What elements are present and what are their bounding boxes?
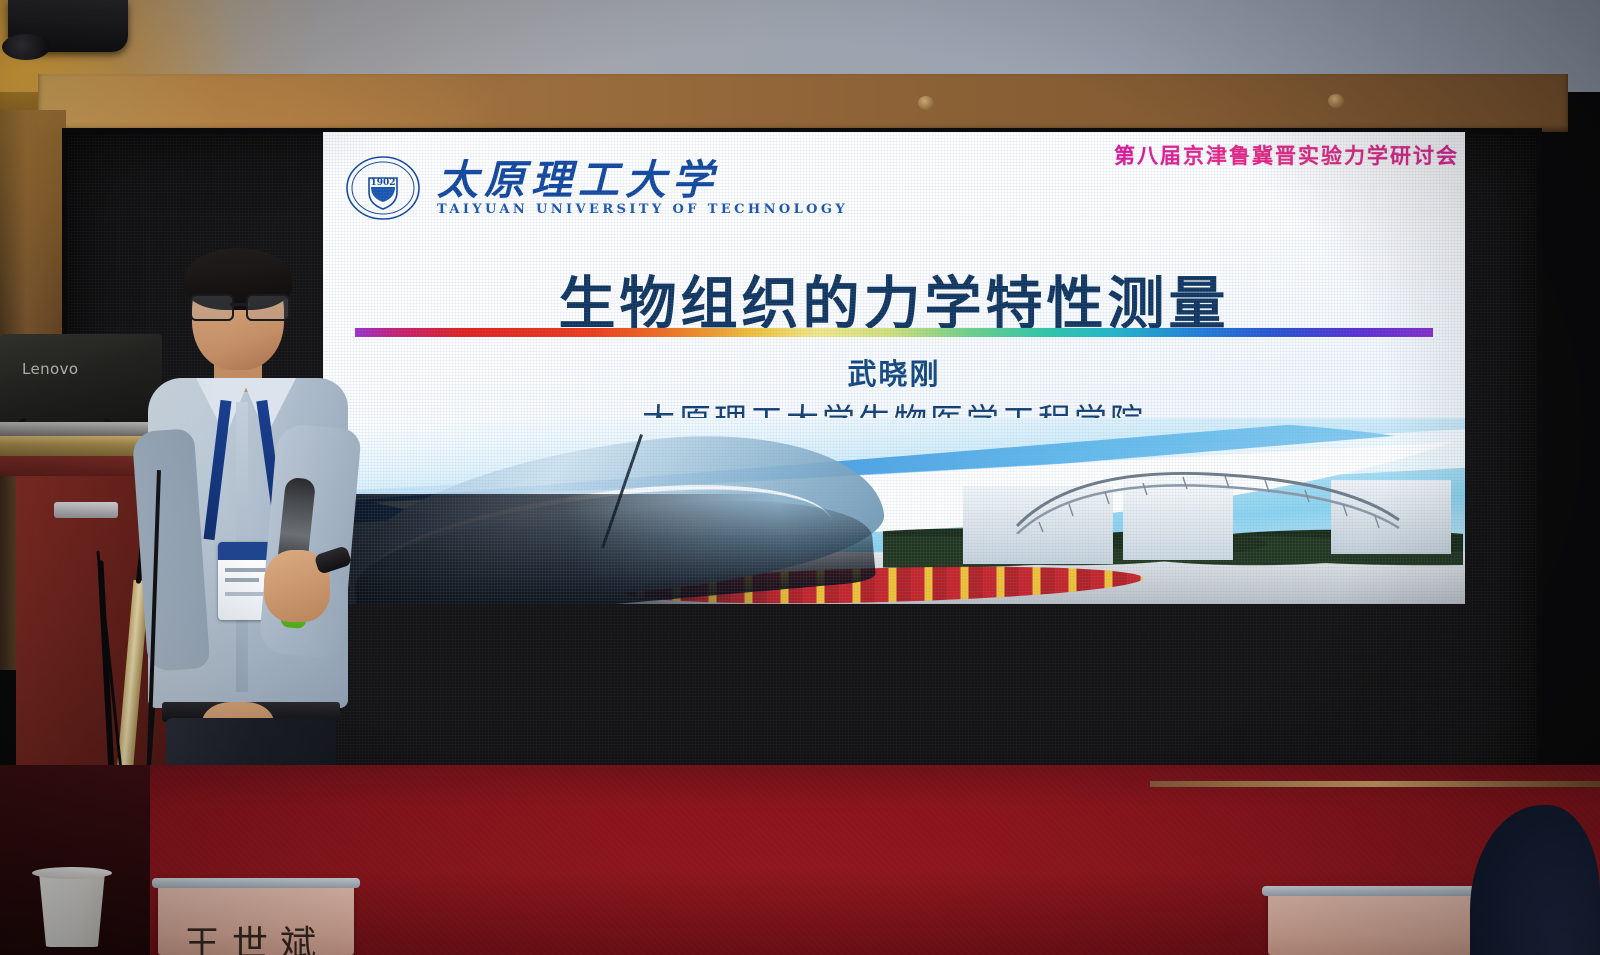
ceiling-projector bbox=[8, 0, 128, 52]
laptop: Lenovo bbox=[0, 334, 162, 442]
glasses-left-lens bbox=[190, 294, 234, 321]
lenovo-logo: Lenovo bbox=[22, 360, 78, 378]
university-seal-icon: 1902 bbox=[345, 150, 421, 226]
paper-cup-rim bbox=[32, 867, 112, 879]
campus-panorama-image bbox=[323, 418, 1465, 604]
frame-screw bbox=[1328, 94, 1344, 108]
campus-gate-arch bbox=[1013, 464, 1403, 534]
stage-gold-trim bbox=[1150, 781, 1600, 787]
rainbow-divider bbox=[355, 328, 1433, 337]
glasses-right-lens bbox=[246, 294, 290, 321]
presenter-name: 武晓刚 bbox=[323, 351, 1465, 393]
badge-text-line bbox=[225, 592, 265, 596]
badge-text-line bbox=[225, 578, 259, 582]
paper-cup bbox=[36, 871, 108, 947]
glasses-icon bbox=[190, 294, 290, 318]
conference-banner-text: 第八届京津鲁冀晋实验力学研讨会 bbox=[1114, 140, 1459, 170]
conference-scene: 第八届京津鲁冀晋实验力学研讨会 1902 太原理工大学 TAIYUAN UNIV… bbox=[0, 0, 1600, 955]
projector-lens bbox=[2, 34, 50, 60]
university-logo-text: 太原理工大学 TAIYUAN UNIVERSITY OF TECHNOLOGY bbox=[437, 160, 848, 217]
svg-text:1902: 1902 bbox=[370, 178, 395, 188]
frame-screw bbox=[918, 96, 934, 110]
presentation-slide: 第八届京津鲁冀晋实验力学研讨会 1902 太原理工大学 TAIYUAN UNIV… bbox=[323, 132, 1465, 604]
wooden-frame-top bbox=[38, 74, 1568, 132]
university-name-cn: 太原理工大学 bbox=[437, 160, 848, 201]
placard-frame bbox=[152, 878, 360, 888]
badge-text-line bbox=[225, 568, 267, 572]
lectern-nameplate bbox=[54, 502, 118, 518]
placard-name-text: 王世斌 bbox=[158, 915, 354, 955]
university-logo: 1902 太原理工大学 TAIYUAN UNIVERSITY OF TECHNO… bbox=[345, 150, 848, 226]
name-placard-right bbox=[1268, 893, 1482, 955]
name-placard-left: 王世斌 bbox=[158, 885, 354, 955]
placard-frame bbox=[1262, 886, 1488, 896]
campus-shadow-overlay bbox=[323, 494, 963, 604]
university-name-en: TAIYUAN UNIVERSITY OF TECHNOLOGY bbox=[437, 202, 848, 217]
